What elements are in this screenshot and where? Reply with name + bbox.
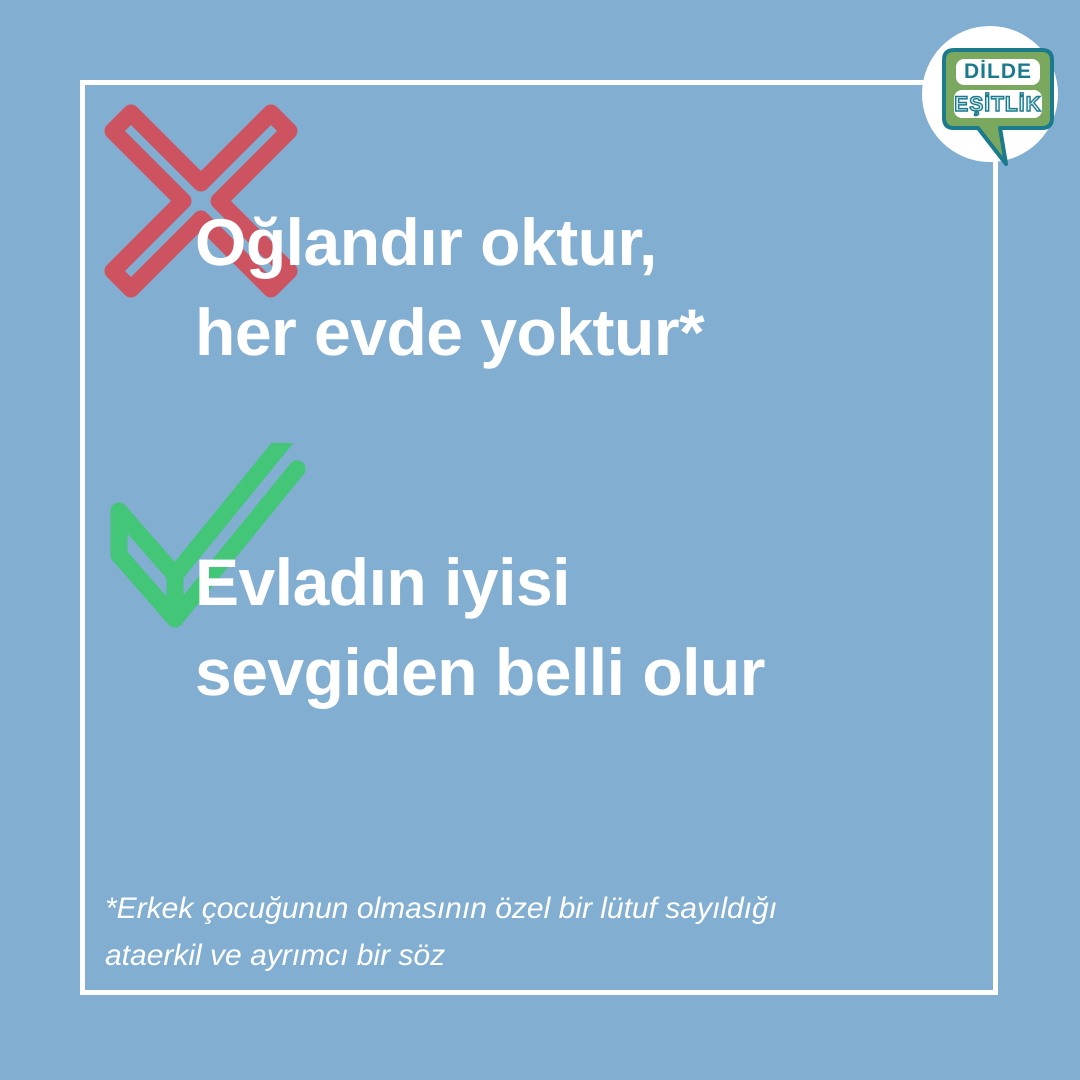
dilde-esitlik-logo: DİLDE EŞİTLİK [916, 26, 1064, 174]
logo-line2: EŞİTLİK [954, 93, 1042, 116]
footnote-text: *Erkek çocuğunun olmasının özel bir lütu… [105, 886, 925, 980]
headline-negative: Oğlandır oktur, her evde yoktur* [195, 198, 955, 378]
headline-positive: Evladın iyisi sevgiden belli olur [195, 538, 975, 718]
poster-canvas: Oğlandır oktur, her evde yoktur* Evladın… [0, 0, 1080, 1080]
logo-line1: DİLDE [964, 60, 1032, 83]
